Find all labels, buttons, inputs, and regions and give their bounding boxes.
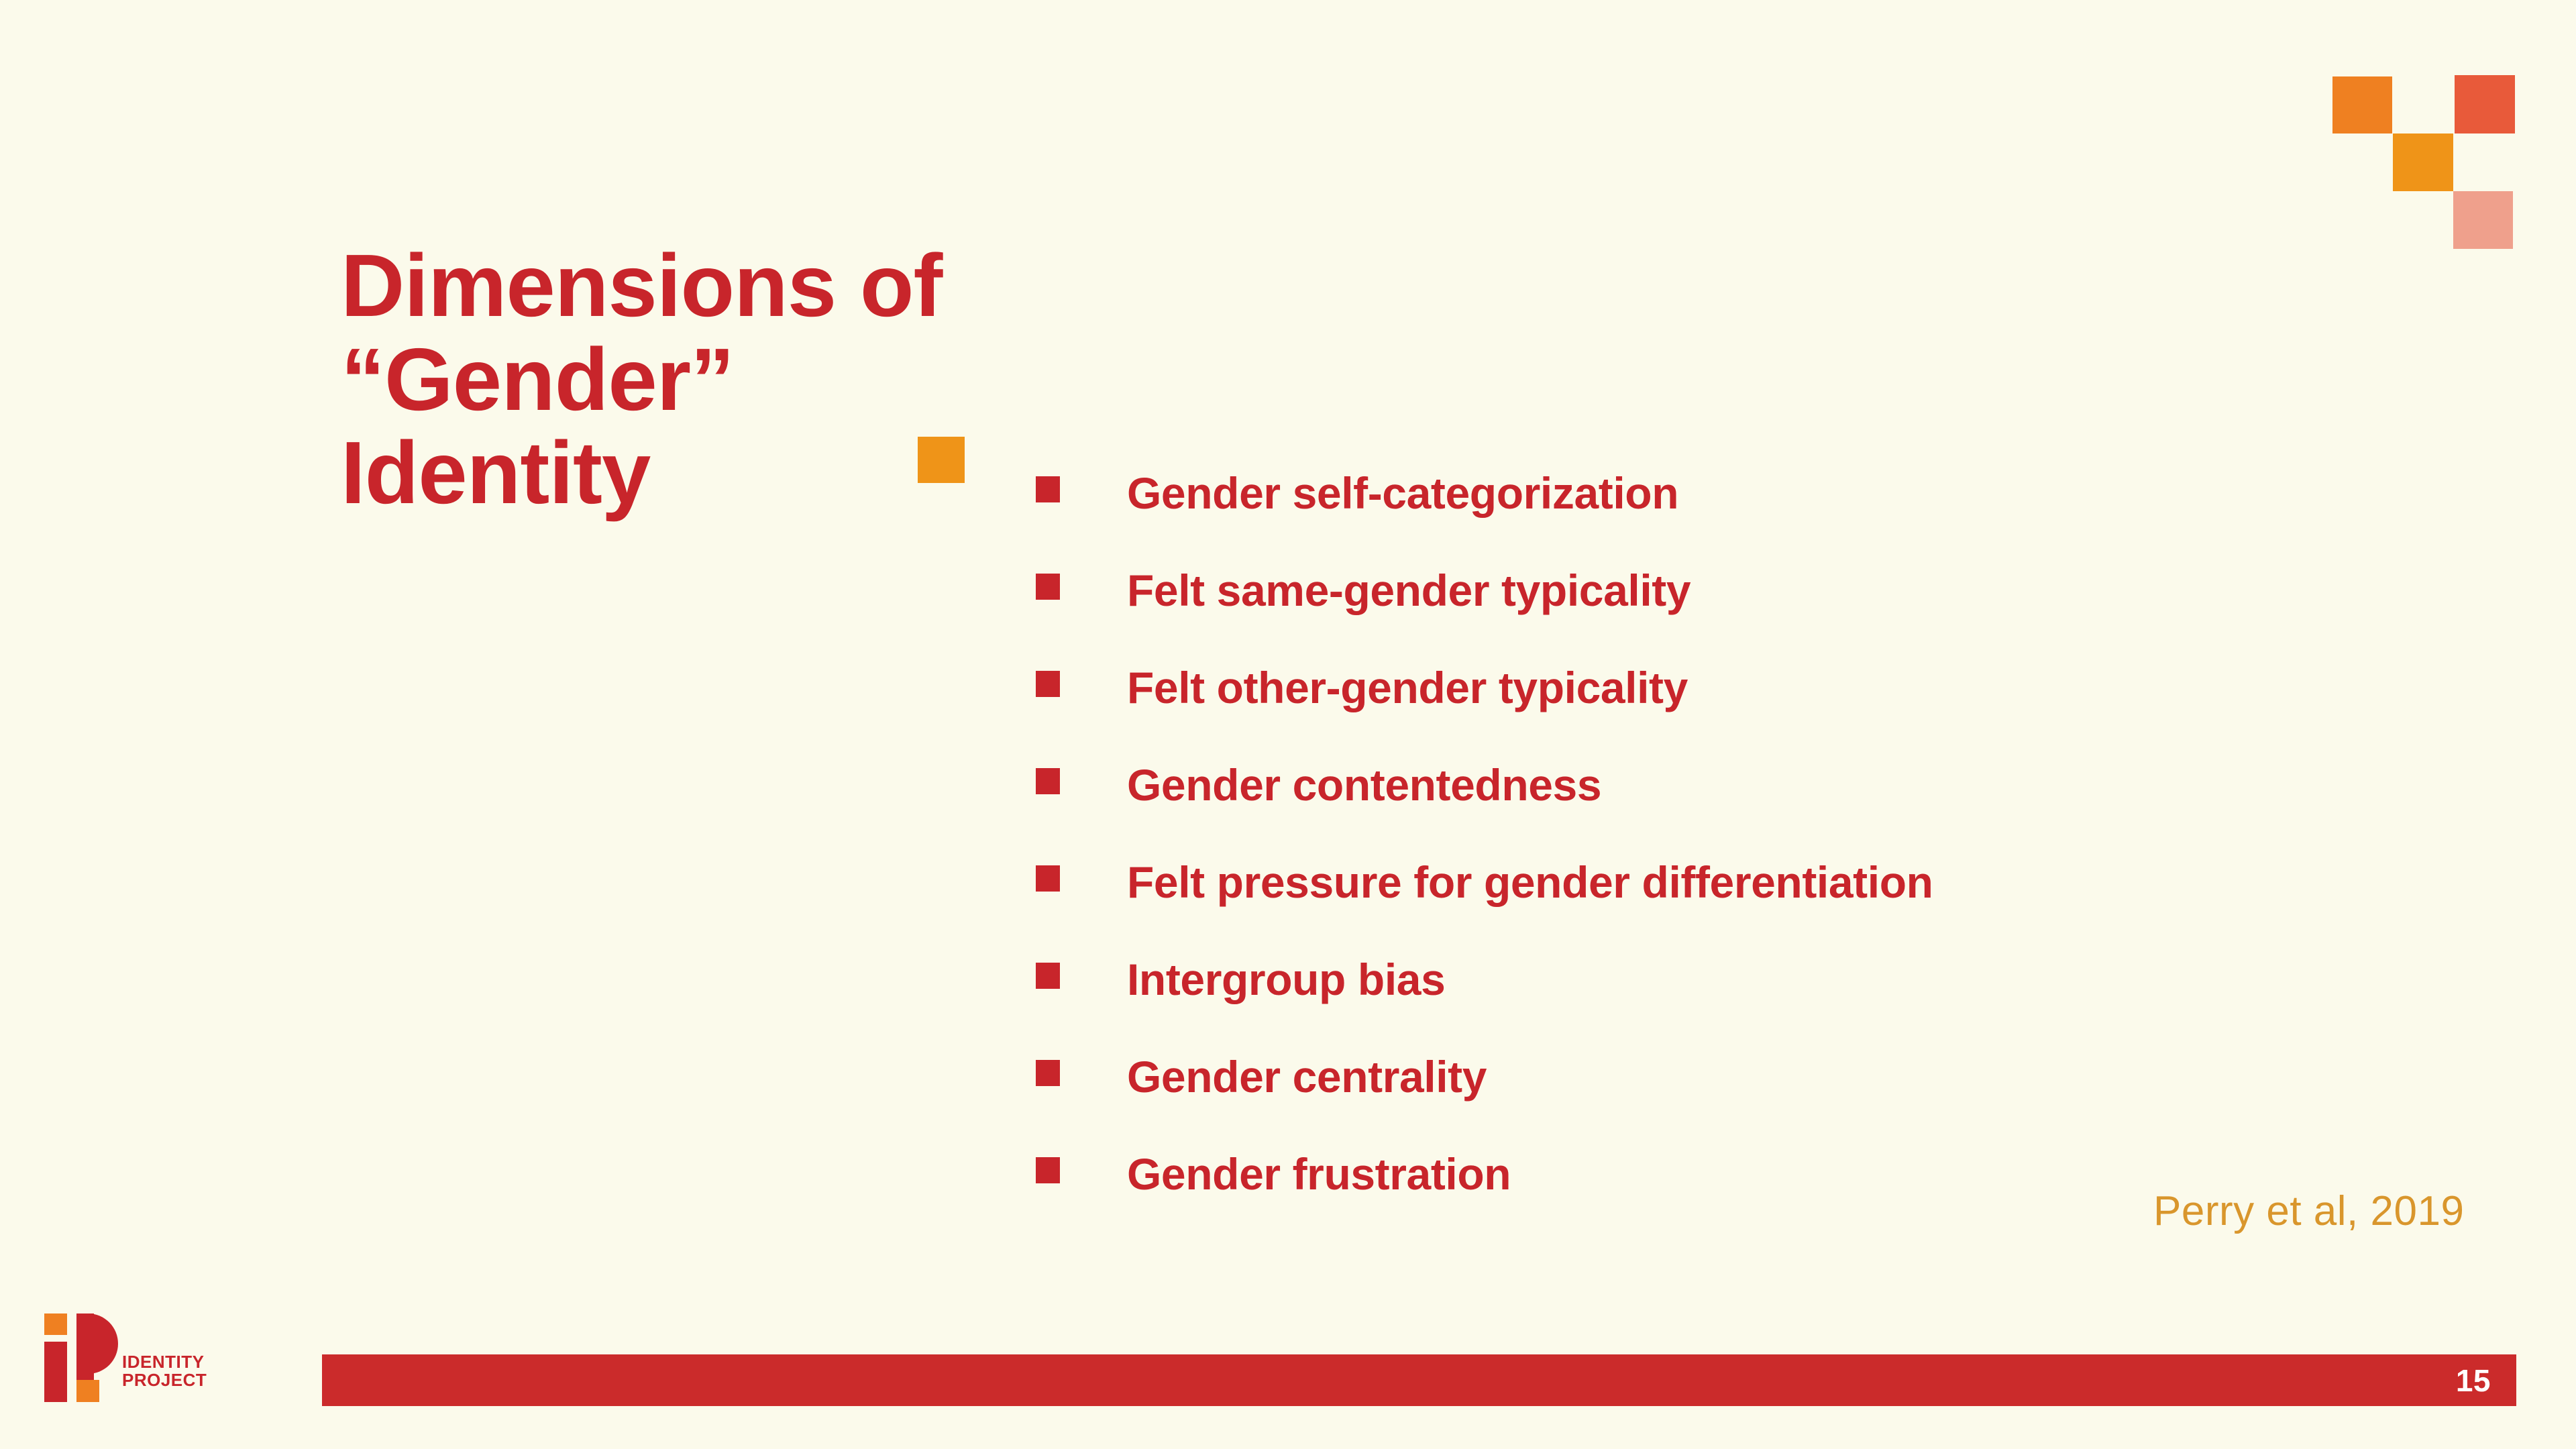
bullet-square-icon: [1036, 1157, 1060, 1183]
ip-monogram-icon: [44, 1311, 118, 1413]
list-item-label: Felt other-gender typicality: [1127, 664, 1688, 712]
bullet-square-icon: [1036, 1060, 1060, 1086]
slide-title-line-2: “Gender”: [341, 333, 1012, 426]
list-item-label: Gender frustration: [1127, 1150, 1511, 1198]
list-item: Gender self-categorization: [1036, 470, 2377, 567]
list-item: Felt same-gender typicality: [1036, 567, 2377, 664]
slide-canvas: Dimensions of “Gender” Identity Gender s…: [0, 0, 2576, 1449]
salmon-square-icon: [2453, 191, 2513, 249]
monogram-p-bowl: [86, 1313, 118, 1374]
slide-title-line-3: Identity: [341, 426, 1012, 519]
list-item: Intergroup bias: [1036, 956, 2377, 1053]
logo-wordmark-line-2: PROJECT: [122, 1371, 207, 1389]
logo-wordmark-line-1: IDENTITY: [122, 1353, 207, 1371]
bullet-square-icon: [1036, 476, 1060, 502]
orange-square-icon: [2332, 76, 2392, 133]
dimensions-bullet-list: Gender self-categorization Felt same-gen…: [1036, 470, 2377, 1248]
list-item-label: Gender centrality: [1127, 1053, 1487, 1101]
list-item: Gender contentedness: [1036, 761, 2377, 859]
list-item: Felt pressure for gender differentiation: [1036, 859, 2377, 956]
page-number: 15: [2456, 1362, 2491, 1399]
monogram-i-stem: [44, 1342, 67, 1402]
title-accent-square-icon: [918, 437, 965, 483]
identity-project-logo: IDENTITY PROJECT: [44, 1311, 246, 1412]
bullet-square-icon: [1036, 574, 1060, 600]
citation-text: Perry et al, 2019: [2153, 1187, 2464, 1235]
bullet-square-icon: [1036, 963, 1060, 989]
footer-bar: 15: [322, 1354, 2516, 1406]
monogram-i-dot: [44, 1313, 67, 1335]
slide-title: Dimensions of “Gender” Identity: [341, 239, 1012, 519]
list-item-label: Gender self-categorization: [1127, 470, 1678, 517]
slide-title-line-1: Dimensions of: [341, 239, 1012, 332]
amber-square-icon: [2393, 133, 2453, 191]
red-orange-square-icon: [2455, 75, 2515, 133]
list-item-label: Felt pressure for gender differentiation: [1127, 859, 1933, 906]
bullet-square-icon: [1036, 671, 1060, 697]
list-item: Felt other-gender typicality: [1036, 664, 2377, 761]
bullet-square-icon: [1036, 865, 1060, 892]
list-item-label: Gender contentedness: [1127, 761, 1601, 809]
logo-wordmark: IDENTITY PROJECT: [122, 1353, 207, 1390]
list-item: Gender centrality: [1036, 1053, 2377, 1150]
monogram-p-foot-square: [76, 1380, 99, 1402]
list-item-label: Felt same-gender typicality: [1127, 567, 1690, 614]
list-item-label: Intergroup bias: [1127, 956, 1445, 1004]
bullet-square-icon: [1036, 768, 1060, 794]
